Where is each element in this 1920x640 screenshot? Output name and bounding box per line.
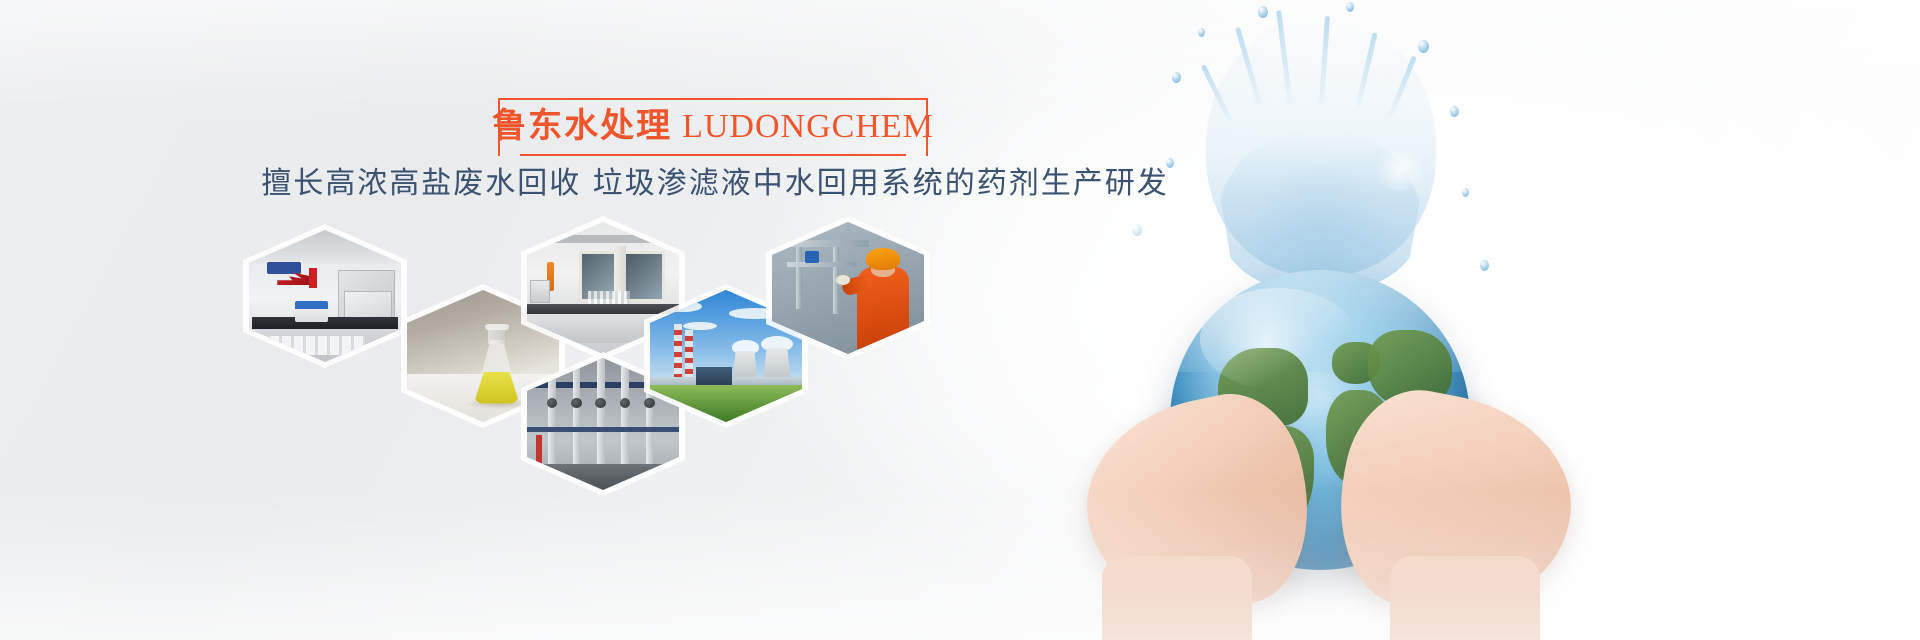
hexagon-photo-cluster bbox=[0, 0, 1000, 640]
water-droplet-10 bbox=[1480, 260, 1489, 271]
wrist-left bbox=[1102, 556, 1252, 640]
worker-glove bbox=[836, 275, 850, 286]
worker-blue-valve bbox=[805, 251, 819, 263]
globe-highlight bbox=[1200, 288, 1356, 390]
water-droplet-8 bbox=[1462, 188, 1469, 197]
worker-pipe-horizontal-2 bbox=[787, 262, 857, 267]
pipe-rail-lower bbox=[527, 427, 679, 432]
flask-lip bbox=[485, 324, 509, 329]
lab-ceiling bbox=[249, 230, 401, 264]
hero-banner: 鲁东水处理 LUDONGCHEM 擅长高浓高盐废水回收 垃圾渗滤液中水回用系统的… bbox=[0, 0, 1920, 640]
water-globe-scene bbox=[1040, 0, 1600, 640]
slogan-numeral-one bbox=[309, 268, 316, 288]
wall-slogan-graphic bbox=[263, 262, 336, 294]
water-droplet-7 bbox=[1166, 158, 1174, 168]
pipe-valve-5 bbox=[644, 398, 655, 409]
pipe-valve-3 bbox=[595, 398, 606, 409]
bokeh-1 bbox=[1370, 150, 1430, 190]
water-droplet-6 bbox=[1450, 106, 1459, 117]
water-droplet-3 bbox=[1258, 6, 1268, 18]
water-droplet-1 bbox=[1172, 72, 1181, 83]
bokeh-2 bbox=[1100, 210, 1170, 244]
pipe-valve-2 bbox=[571, 398, 582, 409]
water-droplet-5 bbox=[1418, 40, 1429, 53]
lab-instrument-top bbox=[295, 301, 328, 309]
plant-chimney-2 bbox=[685, 330, 693, 383]
lab2-device bbox=[530, 280, 550, 303]
plant-chimney-1 bbox=[674, 324, 682, 382]
water-splash bbox=[1150, 10, 1480, 310]
water-droplet-2 bbox=[1198, 28, 1205, 37]
worker-orange-helmet bbox=[866, 248, 899, 269]
plant-main-building bbox=[696, 367, 732, 385]
plant-cloud-3 bbox=[683, 322, 716, 330]
wrist-right bbox=[1390, 556, 1540, 640]
water-droplet-4 bbox=[1346, 2, 1354, 12]
lab2-bench bbox=[527, 304, 679, 315]
slogan-blue-text bbox=[267, 262, 301, 274]
